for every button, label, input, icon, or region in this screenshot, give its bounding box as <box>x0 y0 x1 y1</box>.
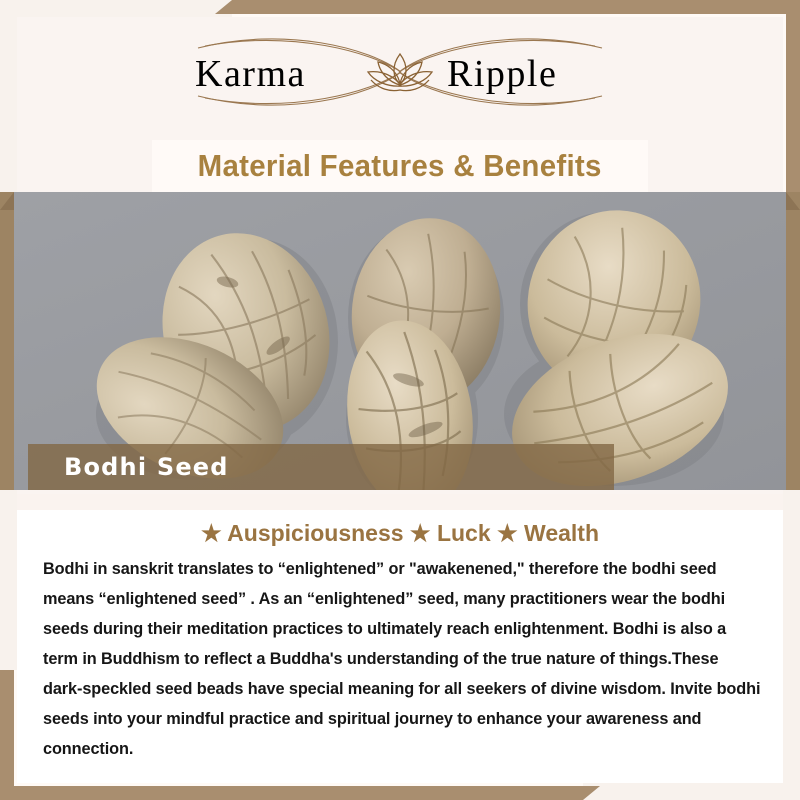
frame-band-right-lower <box>786 192 800 490</box>
description-paragraph: Bodhi in sanskrit translates to “enlight… <box>43 554 761 764</box>
headline-banner: Material Features & Benefits <box>152 140 648 192</box>
frame-band-left <box>0 670 14 800</box>
photo-band-left <box>0 192 14 490</box>
brand-logo-artwork: Karma Ripple <box>165 32 635 112</box>
benefits-headline: ★ Auspiciousness ★ Luck ★ Wealth <box>17 520 783 547</box>
frame-hairline-bottom <box>14 783 583 786</box>
frame-hairline-top <box>232 14 786 17</box>
brand-logo: Karma Ripple <box>0 36 800 108</box>
page-title: Material Features & Benefits <box>198 148 602 184</box>
frame-band-top <box>215 0 800 14</box>
panel-top-tint <box>17 494 783 510</box>
poster-root: Karma Ripple Material Features & Benefit… <box>0 0 800 800</box>
product-photo: Bodhi Seed <box>14 192 786 490</box>
description-panel: ★ Auspiciousness ★ Luck ★ Wealth Bodhi i… <box>17 494 783 783</box>
frame-band-bottom <box>0 786 600 800</box>
brand-name-right: Ripple <box>447 53 557 95</box>
brand-name-left: Karma <box>195 53 306 95</box>
photo-caption-label: Bodhi Seed <box>28 453 229 481</box>
photo-caption-bar: Bodhi Seed <box>28 444 614 490</box>
description-text: Bodhi in sanskrit translates to “enlight… <box>43 554 761 764</box>
